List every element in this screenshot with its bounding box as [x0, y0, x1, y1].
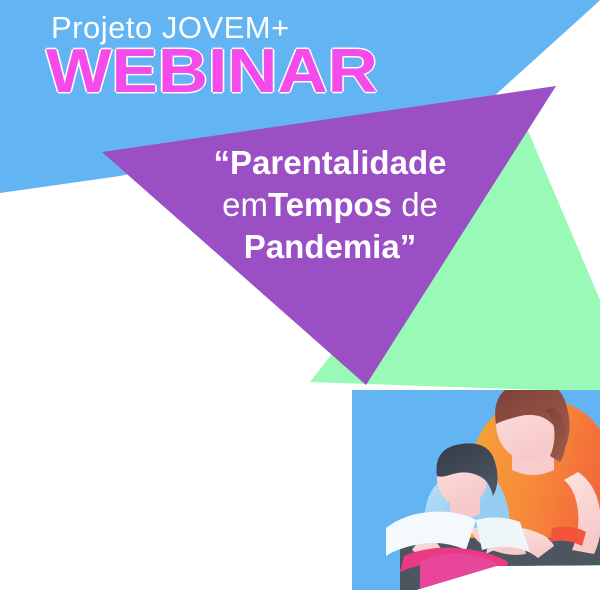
title-line-2-em: em [222, 186, 268, 223]
title-line-2: emTempos de [150, 184, 510, 226]
headline-webinar: WEBINAR [46, 41, 378, 103]
title-line-2-de: de [401, 186, 438, 223]
webinar-poster: Projeto JOVEM+ WEBINAR “Parentalidade em… [0, 0, 600, 590]
title-block: “Parentalidade emTempos de Pandemia” [150, 142, 510, 269]
title-line-2-tempos: Tempos [268, 186, 392, 223]
text-layer: Projeto JOVEM+ WEBINAR “Parentalidade em… [0, 0, 600, 590]
title-line-3: Pandemia” [150, 226, 510, 268]
title-line-1: “Parentalidade [150, 142, 510, 184]
